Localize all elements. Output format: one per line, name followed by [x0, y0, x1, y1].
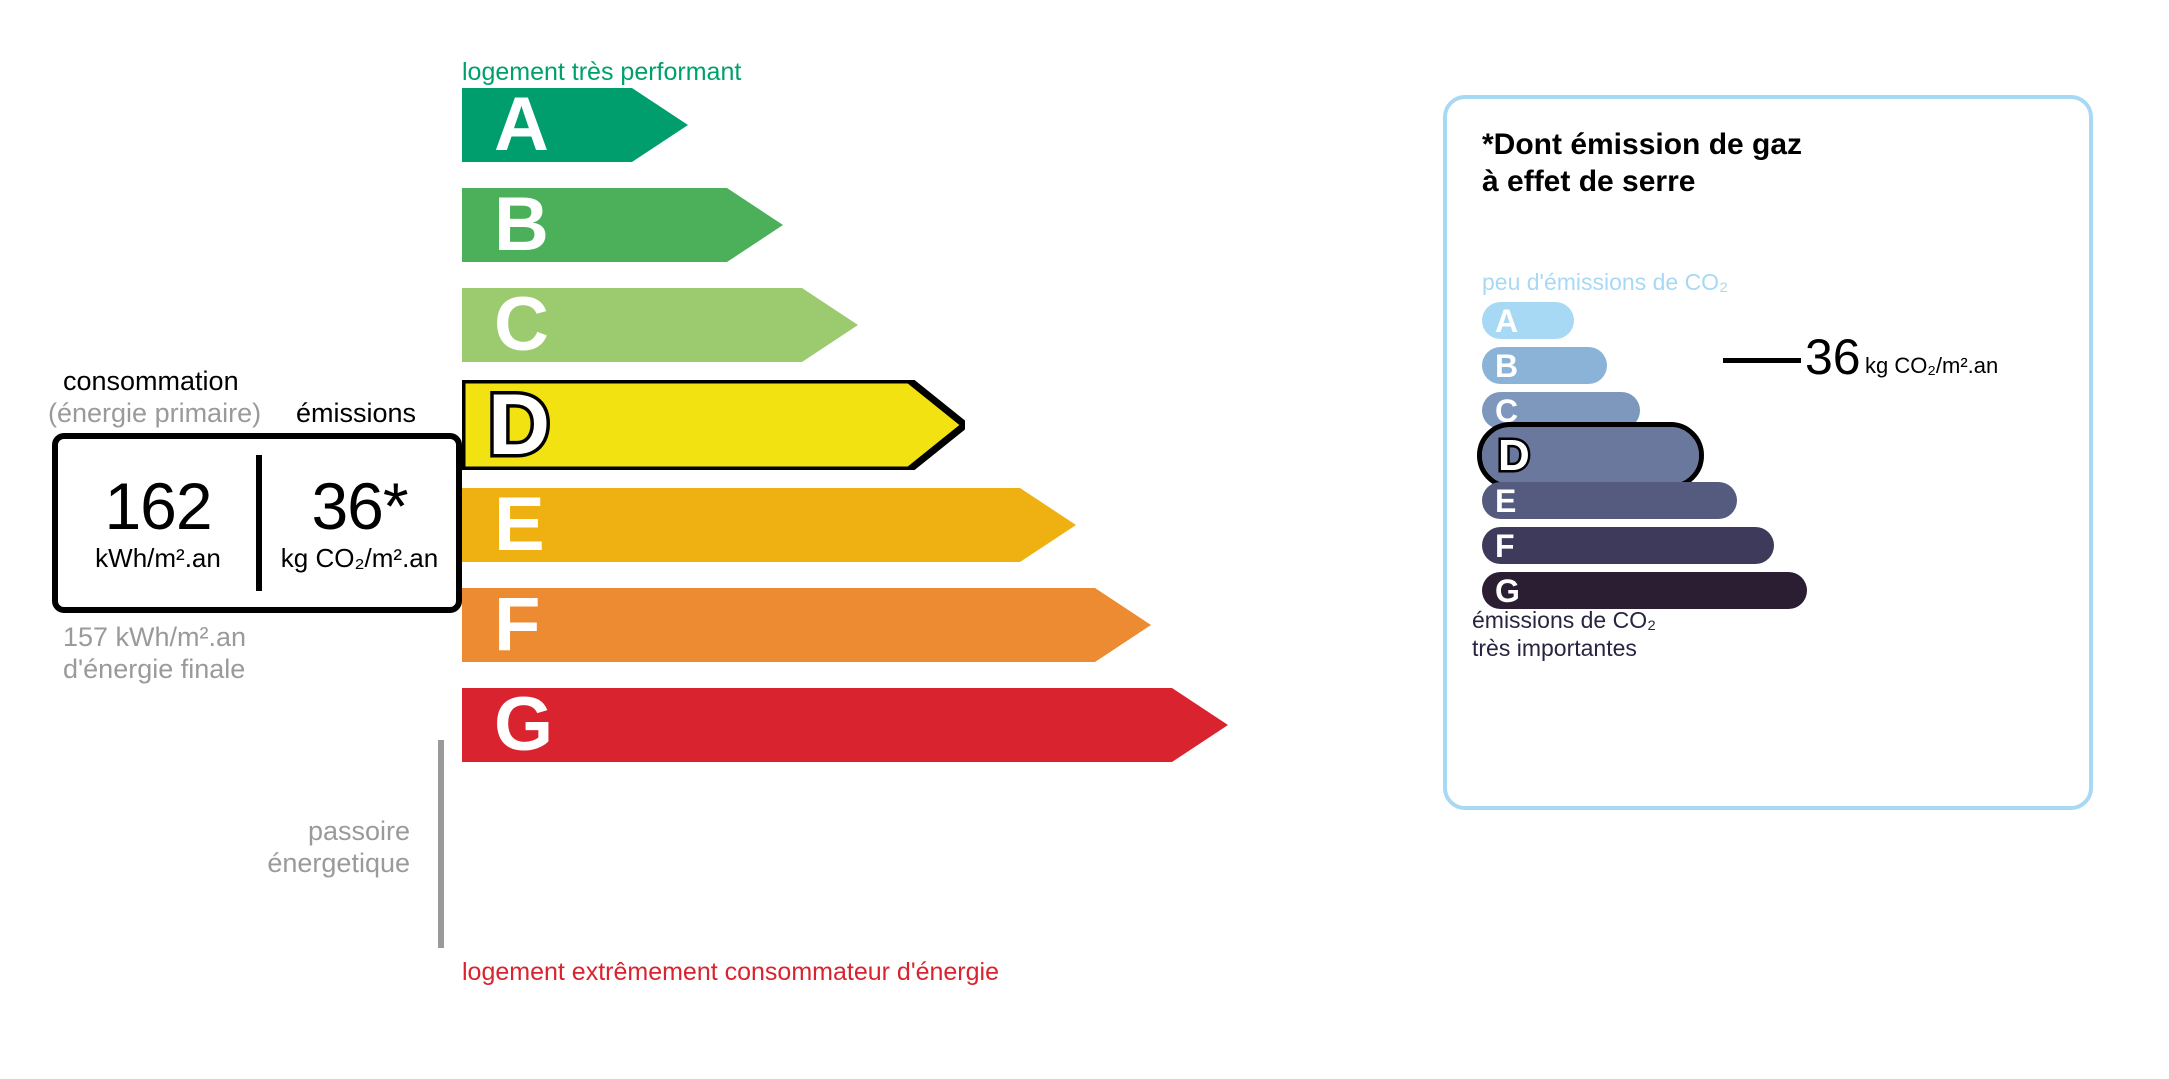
energy-band-d: D — [462, 380, 965, 470]
co2-bar-letter-a: A — [1495, 305, 1518, 337]
co2-bar-letter-b: B — [1495, 350, 1518, 382]
co2-bar-letter-d: D — [1498, 434, 1530, 478]
readings-box: 162 kWh/m².an 36* kg CO₂/m².an — [52, 433, 462, 613]
energy-band-b: B — [462, 188, 783, 262]
co2-value: 36 — [1805, 332, 1861, 382]
co2-bar-g: G — [1482, 572, 1807, 609]
final-energy-line-1: 157 kWh/m².an — [63, 622, 246, 653]
co2-bar-b: B — [1482, 347, 1607, 384]
energy-band-e: E — [462, 488, 1076, 562]
dpe-diagram: logement très performant ABCDEFG consomm… — [0, 0, 2169, 1079]
emissions-title: émissions — [296, 398, 416, 429]
energy-band-letter-c: C — [494, 287, 549, 363]
co2-bar-f: F — [1482, 527, 1774, 564]
co2-bars-layer: ABCDEFG — [1447, 99, 2089, 806]
energy-band-letter-f: F — [494, 587, 540, 663]
emissions-value: 36* — [311, 473, 407, 539]
sieve-bracket-line — [438, 740, 444, 948]
emissions-unit: kg CO₂/m².an — [281, 543, 438, 574]
energy-band-f: F — [462, 588, 1151, 662]
co2-bar-c: C — [1482, 392, 1640, 429]
co2-bar-letter-g: G — [1495, 575, 1520, 607]
co2-bar-letter-f: F — [1495, 530, 1515, 562]
co2-panel: *Dont émission de gaz à effet de serre p… — [1443, 95, 2093, 810]
energy-band-shape-g — [462, 688, 1228, 762]
energy-band-letter-b: B — [494, 187, 549, 263]
energy-band-a: A — [462, 88, 688, 162]
energy-band-c: C — [462, 288, 858, 362]
consumption-subtitle: (énergie primaire) — [48, 398, 261, 429]
energy-band-shape-e — [462, 488, 1076, 562]
co2-leader-line — [1723, 358, 1801, 363]
energy-band-letter-g: G — [494, 687, 553, 763]
consumption-value: 162 — [104, 473, 211, 539]
co2-bottom-caption: émissions de CO₂ très importantes — [1472, 607, 1656, 662]
bottom-caption-high-consumption: logement extrêmement consommateur d'éner… — [462, 958, 999, 987]
sieve-label-line-2: énergetique — [0, 848, 410, 879]
energy-band-letter-a: A — [494, 87, 549, 163]
co2-bar-letter-c: C — [1495, 395, 1518, 427]
co2-bar-d: D — [1482, 427, 1699, 484]
co2-bar-letter-e: E — [1495, 485, 1516, 517]
sieve-label-line-1: passoire — [0, 816, 410, 847]
consumption-unit: kWh/m².an — [95, 543, 221, 574]
co2-value-unit: kg CO₂/m².an — [1865, 355, 1998, 377]
final-energy-line-2: d'énergie finale — [63, 654, 245, 685]
co2-bar-e: E — [1482, 482, 1737, 519]
energy-band-g: G — [462, 688, 1228, 762]
emissions-reading: 36* kg CO₂/m².an — [262, 439, 457, 607]
energy-band-shape-f — [462, 588, 1151, 662]
energy-band-letter-e: E — [494, 487, 545, 563]
co2-bar-a: A — [1482, 302, 1574, 339]
consumption-reading: 162 kWh/m².an — [58, 439, 258, 607]
consumption-title: consommation — [63, 366, 239, 397]
energy-band-letter-d: D — [488, 382, 550, 468]
